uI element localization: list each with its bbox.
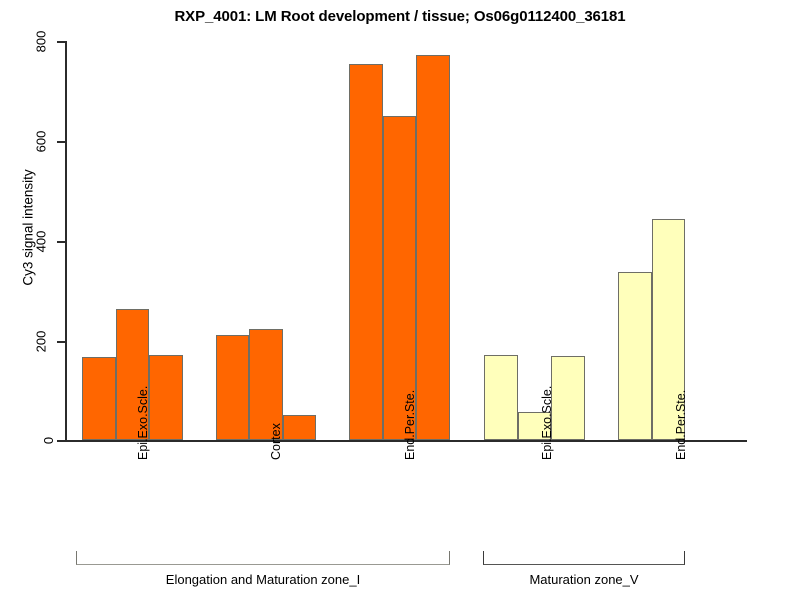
bar [149,355,183,440]
bar [82,357,116,440]
y-axis-tick-label-600: 600 [34,130,49,152]
group-bracket-zone-i [76,551,450,565]
y-axis-line [65,41,67,441]
bar [551,356,585,440]
x-axis-label-cortex: Cortex [269,423,283,460]
y-axis-tick-label-0: 0 [41,436,56,443]
group-label-zone-v: Maturation zone_V [483,572,685,587]
bar [349,64,383,440]
bar [283,415,317,440]
chart-title: RXP_4001: LM Root development / tissue; … [0,8,800,25]
y-axis-tick-label-800-wrap: 800 [0,34,52,48]
y-axis-tick-label-800: 800 [34,30,49,52]
x-axis-label-end-per-ste-2: End.Per.Ste. [674,390,688,460]
x-axis-label-epi-exo-scle-1: Epi.Exo.Scle. [136,386,150,460]
y-axis-tick-label-200-wrap: 200 [0,334,52,348]
bar [416,55,450,440]
y-axis-tick-label-400: 400 [34,230,49,252]
x-axis-label-end-per-ste-1: End.Per.Ste. [403,390,417,460]
y-axis-tick-0 [57,440,65,442]
y-axis-tick-label-0-wrap: 0 [0,433,52,447]
x-axis-label-epi-exo-scle-2: Epi.Exo.Scle. [540,386,554,460]
bar [618,272,652,440]
bar [216,335,250,440]
y-axis-tick-600 [57,141,65,143]
y-axis-tick-200 [57,341,65,343]
y-axis-tick-800 [57,41,65,43]
y-axis-tick-label-200: 200 [34,330,49,352]
bar [484,355,518,440]
group-bracket-zone-v [483,551,685,565]
group-label-zone-i: Elongation and Maturation zone_I [76,572,450,587]
bar-chart-plot: RXP_4001: LM Root development / tissue; … [0,0,800,600]
y-axis-tick-400 [57,241,65,243]
y-axis-title: Cy3 signal intensity [21,138,36,318]
